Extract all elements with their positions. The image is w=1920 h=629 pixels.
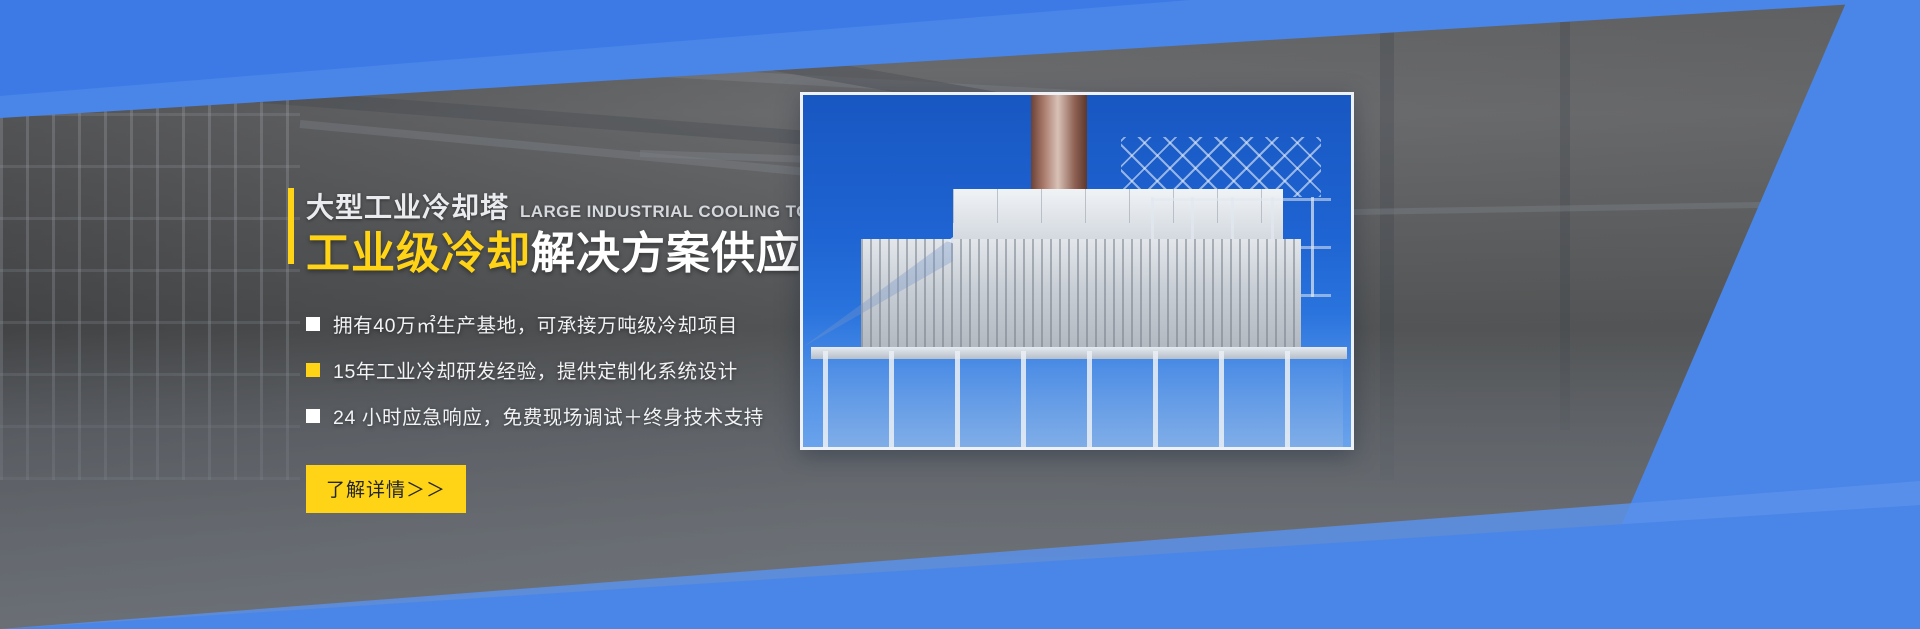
kicker-chinese: 大型工业冷却塔 [306, 186, 509, 226]
feature-text: 拥有40万㎡生产基地，可承接万吨级冷却项目 [333, 309, 738, 338]
kicker-line: 大型工业冷却塔 LARGE INDUSTRIAL COOLING TOWER [288, 186, 848, 226]
learn-more-button[interactable]: 了解详情＞＞ [306, 465, 466, 513]
list-item: 24 小时应急响应，免费现场调试＋终身技术支持 [306, 401, 848, 430]
photo-support-legs [823, 351, 1343, 447]
headline-plain-text: 解决方案供应商 [531, 229, 846, 278]
feature-list: 拥有40万㎡生产基地，可承接万吨级冷却项目 15年工业冷却研发经验，提供定制化系… [288, 309, 848, 430]
feature-text: 24 小时应急响应，免费现场调试＋终身技术支持 [333, 401, 764, 430]
product-photo [800, 92, 1354, 450]
headline-accent-text: 工业级冷却 [306, 229, 531, 278]
square-bullet-icon [306, 363, 320, 377]
hero-banner: 大型工业冷却塔 LARGE INDUSTRIAL COOLING TOWER 工… [0, 0, 1920, 629]
list-item: 15年工业冷却研发经验，提供定制化系统设计 [306, 355, 848, 384]
list-item: 拥有40万㎡生产基地，可承接万吨级冷却项目 [306, 309, 848, 338]
feature-text: 15年工业冷却研发经验，提供定制化系统设计 [333, 355, 738, 384]
page-title: 工业级冷却解决方案供应商 [288, 228, 848, 280]
square-bullet-icon [306, 409, 320, 423]
hero-content: 大型工业冷却塔 LARGE INDUSTRIAL COOLING TOWER 工… [288, 186, 848, 513]
photo-lattice-structure [1121, 137, 1321, 197]
accent-bar [288, 188, 294, 264]
square-bullet-icon [306, 317, 320, 331]
